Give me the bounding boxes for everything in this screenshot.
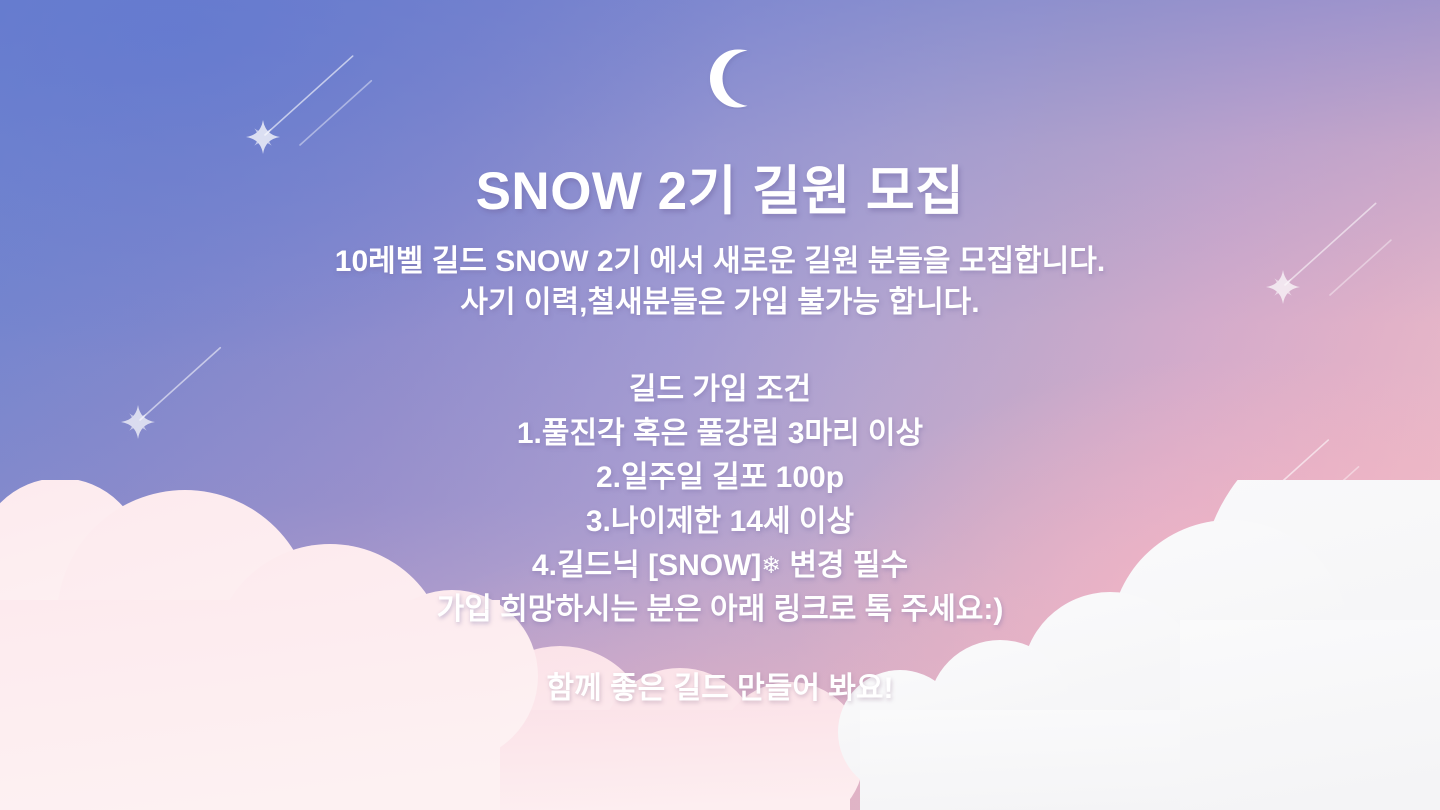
poster-text-content: SNOW 2기 길원 모집 10레벨 길드 SNOW 2기 에서 새로운 길원 … xyxy=(0,0,1440,810)
condition-item-4: 4.길드닉 [SNOW]❄ 변경 필수 xyxy=(0,544,1440,588)
intro-paragraph: 10레벨 길드 SNOW 2기 에서 새로운 길원 분들을 모집합니다. 사기 … xyxy=(0,241,1440,324)
page-title: SNOW 2기 길원 모집 xyxy=(0,162,1440,221)
intro-line-2: 사기 이력,철새분들은 가입 불가능 합니다. xyxy=(0,282,1440,323)
snowflake-icon: ❄ xyxy=(761,553,781,579)
guild-recruitment-poster: SNOW 2기 길원 모집 10레벨 길드 SNOW 2기 에서 새로운 길원 … xyxy=(0,0,1440,810)
closing-line-1: 함께 좋은 길드 만들어 봐요! xyxy=(0,668,1440,710)
closing-message: 함께 좋은 길드 만들어 봐요! xyxy=(0,668,1440,710)
intro-line-1: 10레벨 길드 SNOW 2기 에서 새로운 길원 분들을 모집합니다. xyxy=(0,241,1440,282)
condition-item-2: 2.일주일 길포 100p xyxy=(0,456,1440,500)
condition-item-4-prefix: 4.길드닉 [SNOW] xyxy=(532,549,761,582)
contact-instruction: 가입 희망하시는 분은 아래 링크로 톡 주세요:) xyxy=(0,588,1440,632)
conditions-heading: 길드 가입 조건 xyxy=(0,368,1440,412)
condition-item-3: 3.나이제한 14세 이상 xyxy=(0,500,1440,544)
condition-item-1: 1.풀진각 혹은 풀강림 3마리 이상 xyxy=(0,412,1440,456)
conditions-block: 길드 가입 조건 1.풀진각 혹은 풀강림 3마리 이상 2.일주일 길포 10… xyxy=(0,368,1440,633)
condition-item-4-suffix: 변경 필수 xyxy=(781,549,908,582)
